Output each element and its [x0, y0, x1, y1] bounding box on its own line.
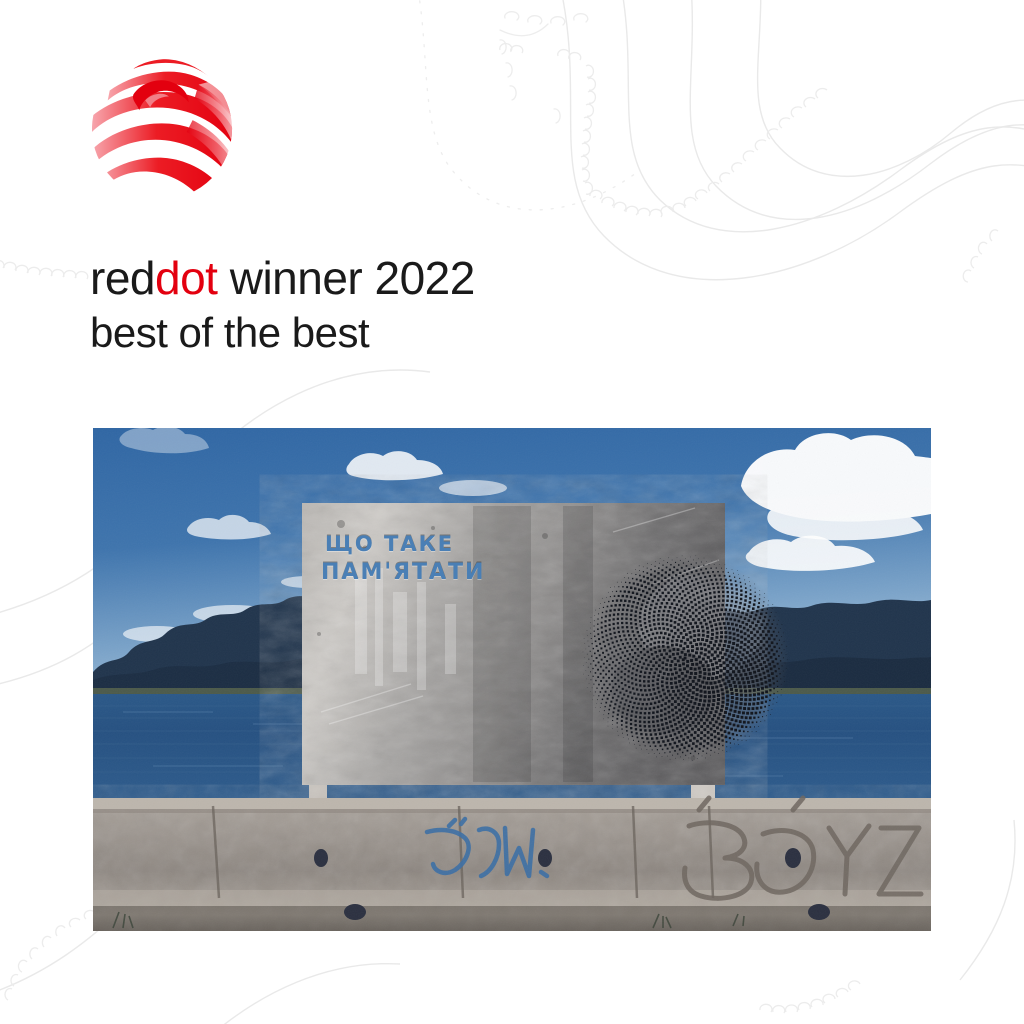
reddot-winner-year: winner 2022	[217, 252, 474, 304]
scallop-row-bottomright	[760, 981, 860, 1013]
reddot-dot-word: dot	[155, 252, 217, 304]
sphere-stripes	[88, 55, 236, 203]
award-headline: reddot winner 2022	[90, 252, 690, 304]
monument-inscription-line-1: ЩО ТАКЕ	[325, 532, 454, 556]
award-subline: best of the best	[90, 308, 690, 358]
scalloped-contour-dashes	[418, 0, 640, 210]
scallop-row-rightmid	[963, 230, 998, 282]
photo-scene	[93, 428, 931, 931]
photo-grain	[93, 428, 931, 931]
reddot-red-word: red	[90, 252, 155, 304]
scallop-row-left	[0, 260, 88, 279]
scallop-row-bottomleft	[5, 910, 96, 1000]
reddot-sphere-logo	[88, 55, 236, 203]
monument-inscription-line-2: ПАМ'ЯТАТИ	[321, 560, 485, 585]
award-text: reddot winner 2022 best of the best	[90, 252, 690, 358]
memorial-monument-photograph: ЩО ТАКЕ ПАМ'ЯТАТИ	[93, 428, 931, 931]
scallop-row-top	[500, 44, 827, 217]
